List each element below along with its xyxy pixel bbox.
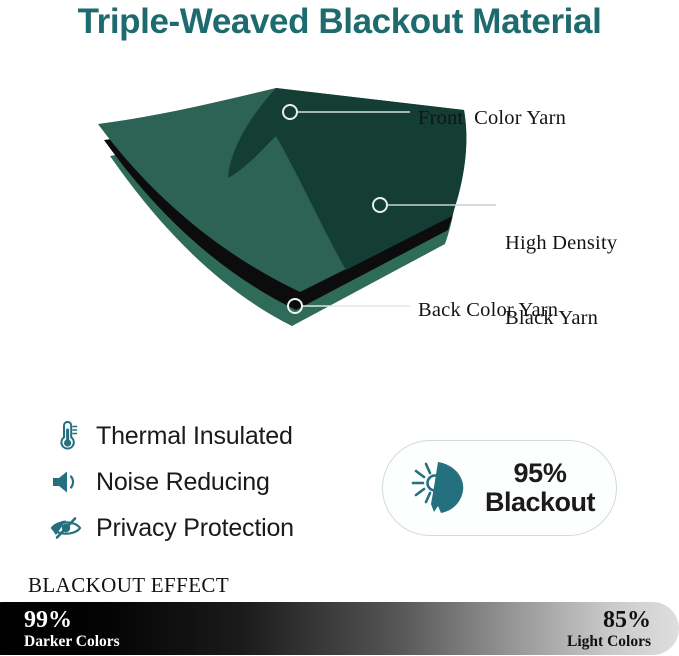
page-title: Triple-Weaved Blackout Material (0, 2, 679, 42)
eye-slash-icon (46, 516, 86, 540)
badge-word: Blackout (485, 488, 595, 517)
feature-label-privacy-protection: Privacy Protection (96, 514, 294, 543)
feature-item-thermal-insulated: Thermal Insulated (46, 413, 366, 459)
feature-item-privacy-protection: Privacy Protection (46, 505, 366, 551)
sun-blocked-icon (405, 457, 477, 519)
feature-list: Thermal Insulated Noise Reducing Privacy… (46, 413, 366, 551)
callout-label-front-color-yarn: Front Color Yarn (418, 106, 566, 131)
feature-item-noise-reducing: Noise Reducing (46, 459, 366, 505)
gradient-bar-right-stat: 85% Light Colors (567, 608, 651, 651)
callout-high-line1: High Density (505, 231, 617, 256)
badge-text: 95% Blackout (485, 459, 595, 516)
blackout-effect-heading: BLACKOUT EFFECT (28, 573, 229, 598)
gradient-left-caption: Darker Colors (24, 633, 120, 651)
callout-label-high-density-black-yarn: High Density Black Yarn (505, 181, 617, 356)
callout-label-back-color-yarn: Back Color Yarn (418, 298, 558, 323)
blackout-effect-gradient-bar: 99% Darker Colors 85% Light Colors (0, 602, 679, 655)
gradient-bar-left-stat: 99% Darker Colors (24, 608, 120, 651)
feature-label-thermal-insulated: Thermal Insulated (96, 422, 293, 451)
gradient-right-caption: Light Colors (567, 633, 651, 651)
thermometer-icon (46, 421, 86, 451)
feature-label-noise-reducing: Noise Reducing (96, 468, 270, 497)
gradient-right-percent: 85% (567, 608, 651, 633)
speaker-icon (46, 469, 86, 495)
blackout-percentage-badge: 95% Blackout (382, 440, 617, 536)
gradient-left-percent: 99% (24, 608, 120, 633)
badge-percent: 95% (485, 459, 595, 488)
